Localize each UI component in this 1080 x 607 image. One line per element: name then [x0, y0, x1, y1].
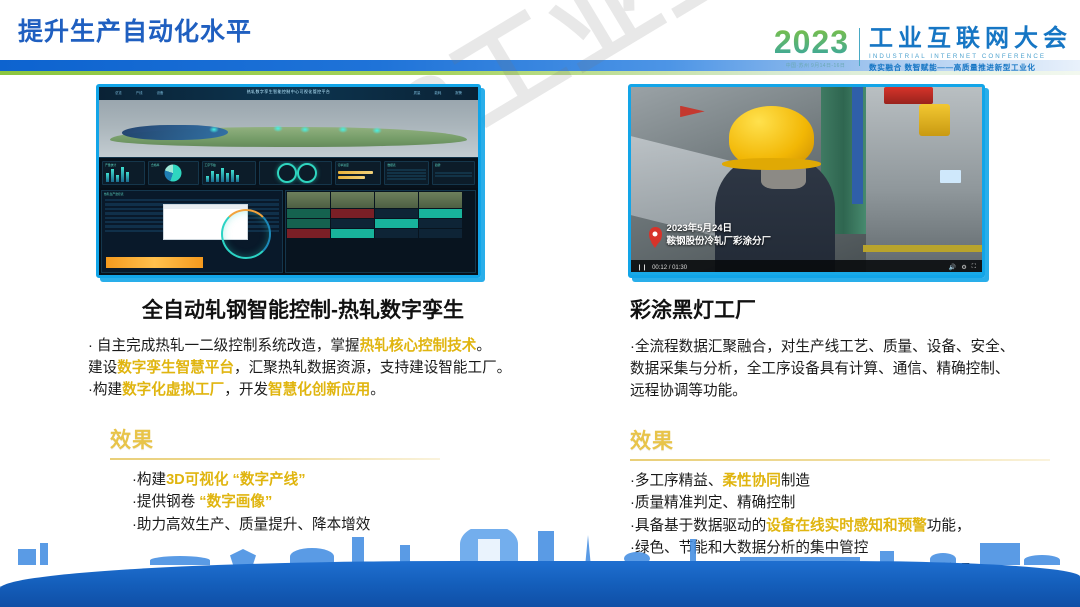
video-frame: 2023年5月24日 鞍钢股份冷轧厂彩涂分厂 ❙❙ 00:12 / 01:30 … [631, 87, 982, 275]
scene-glow-marker [300, 126, 310, 133]
yellow-robot-arm [919, 104, 951, 136]
kpi-panel-bars: 产量统计 [102, 161, 145, 185]
dashboard-tab[interactable]: 设备 [157, 90, 164, 95]
plain-text: ·构建 [132, 472, 166, 488]
status-cell [331, 209, 374, 218]
footer-wave-front [0, 561, 1080, 607]
slide-root: 提升生产自动化水平 2023 中国·苏州 9月14日-16日 工业互联网大会 I… [0, 0, 1080, 607]
highlighted-text: 数字化虚拟工厂 [122, 382, 224, 398]
right-effect-divider [630, 459, 1050, 461]
video-overlay-text: 2023年5月24日 鞍钢股份冷轧厂彩涂分厂 [667, 223, 772, 249]
status-cell [375, 209, 418, 218]
status-cell [375, 219, 418, 228]
scene-glow-marker [372, 127, 382, 134]
status-cell [419, 229, 462, 238]
text-line: ·全流程数据汇聚融合，对生产线工艺、质量、设备、安全、 [630, 336, 1060, 358]
kpi-panel-donut: 合格率 [148, 161, 198, 185]
left-effect-list: ·构建3D可视化 “数字产线”·提供钢卷 “数字画像”·助力高效生产、质量提升、… [110, 469, 440, 537]
video-location-overlay: 2023年5月24日 鞍钢股份冷轧厂彩涂分厂 [649, 223, 772, 249]
plain-text: ，汇聚热轧数据资源，支持建设智能工厂。 [234, 360, 511, 376]
city-skyline-silhouette [0, 529, 1080, 565]
right-headline: 彩涂黑灯工厂 [630, 294, 1060, 324]
plain-text: ·全流程数据汇聚融合，对生产线工艺、质量、设备、安全、 [630, 339, 1014, 355]
skyscraper-icon [538, 531, 554, 565]
kpi-panel-line: 趋势 [432, 161, 475, 185]
text-line: ·提供钢卷 “数字画像” [132, 491, 440, 514]
plant-icon [980, 543, 1020, 565]
highlighted-text: 3D可视化 [166, 472, 228, 488]
logo-main-title: 工业互联网大会 [869, 26, 1072, 51]
video-overlay-date: 2023年5月24日 [667, 223, 772, 236]
red-crane [884, 87, 933, 104]
right-column: 2023年5月24日 鞍钢股份冷轧厂彩涂分厂 ❙❙ 00:12 / 01:30 … [620, 84, 1060, 583]
page-title: 提升生产自动化水平 [18, 12, 252, 48]
dashboard-topbar: 热轧数字孪生智能控制中心可视化管控平台 总览 产线 设备 质量 能耗 报警 [99, 87, 478, 100]
pause-icon[interactable]: ❙❙ [637, 264, 647, 271]
coil-temperature-strip [106, 257, 203, 268]
mini-bar-chart [106, 166, 129, 182]
volume-icon[interactable]: 🔊 [949, 264, 956, 271]
wall-display-screen [940, 170, 961, 183]
dashboard-title: 热轧数字孪生智能控制中心可视化管控平台 [247, 89, 331, 95]
video-progress-bar[interactable] [631, 272, 982, 275]
highlighted-text: 数字孪生智慧平台 [117, 360, 234, 376]
logo-english-subtitle: INDUSTRIAL INTERNET CONFERENCE [869, 53, 1072, 60]
video-control-bar[interactable]: ❙❙ 00:12 / 01:30 🔊 ⚙ ⛶ [631, 260, 982, 275]
right-effect-title: 效果 [630, 425, 1050, 455]
highlighted-text: 热轧核心控制技术 [360, 338, 477, 354]
highlighted-text: 柔性协同 [722, 473, 780, 489]
dashboard-kpi-row: 产量统计 合格率 工序节拍 [99, 157, 478, 188]
dashboard-mock: 热轧数字孪生智能控制中心可视化管控平台 总览 产线 设备 质量 能耗 报警 [99, 87, 478, 275]
kpi-panel-gauges [259, 161, 332, 185]
video-player[interactable]: 2023年5月24日 鞍钢股份冷轧厂彩涂分厂 ❙❙ 00:12 / 01:30 … [628, 84, 985, 278]
video-controls-left[interactable]: ❙❙ 00:12 / 01:30 [637, 264, 687, 271]
dashboard-tab[interactable]: 能耗 [434, 90, 441, 95]
plain-text: 。 [476, 338, 491, 354]
status-cell [287, 219, 330, 228]
bridge-icon [1024, 555, 1060, 565]
status-cell [375, 229, 418, 238]
video-controls-right[interactable]: 🔊 ⚙ ⛶ [949, 264, 976, 271]
chimney-icon [40, 543, 48, 565]
plain-text: 数据采集与分析，全工序设备具有计算、通信、精确控制、 [630, 361, 1009, 377]
left-body-text: · 自主完成热轧一二级控制系统改造，掌握热轧核心控制技术。建设数字孪生智慧平台，… [88, 335, 518, 402]
hardhat-brim [722, 158, 820, 169]
text-line: ·构建数字化虚拟工厂，开发智慧化创新应用。 [88, 379, 518, 401]
plain-text: ，开发 [224, 382, 268, 398]
text-line: ·质量精准判定、精确控制 [630, 492, 1050, 515]
status-cell [419, 209, 462, 218]
plain-text: 自主完成热轧一二级控制系统改造，掌握 [93, 338, 360, 354]
video-time: 00:12 / 01:30 [652, 265, 687, 271]
dashboard-image: 热轧数字孪生智能控制中心可视化管控平台 总览 产线 设备 质量 能耗 报警 [96, 84, 481, 278]
logo-year: 2023 [774, 26, 857, 58]
plain-text: 建设 [88, 360, 117, 376]
logo-divider [859, 28, 860, 66]
camera-thumbnail[interactable] [287, 192, 330, 208]
panel-label: 合格率 [151, 163, 159, 167]
donut-chart [165, 165, 182, 182]
factory-icon [18, 549, 36, 565]
video-overlay-location: 鞍钢股份冷轧厂彩涂分厂 [667, 236, 772, 249]
conference-logo: 2023 中国·苏州 9月14日-16日 工业互联网大会 INDUSTRIAL … [774, 26, 1072, 73]
logo-tagline: 数实融合 数智赋能——高质量推进新型工业化 [869, 62, 1072, 73]
plain-text: ·提供钢卷 [132, 494, 195, 510]
fullscreen-icon[interactable]: ⛶ [972, 264, 976, 271]
footer-decoration [0, 529, 1080, 607]
camera-grid [285, 190, 476, 273]
left-effect-divider [110, 458, 440, 460]
status-cell [287, 229, 330, 238]
status-cell [287, 209, 330, 218]
dashboard-tab[interactable]: 产线 [136, 90, 143, 95]
dashboard-tabs-right[interactable]: 质量 能耗 报警 [414, 90, 462, 95]
text-line: 数据采集与分析，全工序设备具有计算、通信、精确控制、 [630, 358, 1060, 380]
kpi-panel-trend: 工序节拍 [202, 161, 256, 185]
highlighted-text: 智慧化创新应用 [268, 382, 370, 398]
plain-text: 远程协调等功能。 [630, 383, 747, 399]
plain-text: ·质量精准判定、精确控制 [630, 495, 795, 511]
plain-text: 。 [370, 382, 385, 398]
logo-year-subtitle: 中国·苏州 9月14日-16日 [774, 62, 857, 69]
table-title: 热轧生产监控表 [104, 192, 124, 196]
dashboard-detail-row: 热轧生产监控表 [99, 188, 478, 275]
highlighted-text: “数字产线” [229, 472, 306, 488]
panel-label: 趋势 [435, 163, 441, 167]
text-line: 远程协调等功能。 [630, 380, 1060, 402]
dashboard-tab[interactable]: 质量 [414, 90, 421, 95]
dashboard-3d-scene [99, 100, 478, 157]
status-cell [331, 219, 374, 228]
right-body-text: ·全流程数据汇聚融合，对生产线工艺、质量、设备、安全、数据采集与分析，全工序设备… [630, 336, 1060, 403]
left-effect-title: 效果 [110, 424, 440, 454]
text-line: ·多工序精益、柔性协同制造 [630, 470, 1050, 493]
logo-year-block: 2023 中国·苏州 9月14日-16日 [774, 26, 857, 69]
gauge-dial [277, 163, 297, 183]
dashboard-tab[interactable]: 总览 [115, 90, 122, 95]
text-line: 建设数字孪生智慧平台，汇聚热轧数据资源，支持建设智能工厂。 [88, 357, 518, 379]
highlighted-text: “数字画像” [195, 494, 272, 510]
blue-column [852, 87, 863, 204]
mini-bar-chart [206, 166, 239, 182]
text-line: · 自主完成热轧一二级控制系统改造，掌握热轧核心控制技术。 [88, 335, 518, 357]
plain-text: ·多工序精益、 [630, 473, 722, 489]
pavilion-icon [230, 549, 256, 565]
plain-text: 制造 [781, 473, 810, 489]
left-column: 热轧数字孪生智能控制中心可视化管控平台 总览 产线 设备 质量 能耗 报警 [88, 84, 518, 536]
yellow-safety-rail [863, 245, 982, 253]
mountain-icon [150, 556, 210, 565]
logo-text-block: 工业互联网大会 INDUSTRIAL INTERNET CONFERENCE 数… [869, 26, 1072, 73]
panel-label: 订单进度 [338, 163, 349, 167]
camera-thumbnail[interactable] [419, 192, 462, 208]
dashboard-tabs-left[interactable]: 总览 产线 设备 [115, 90, 163, 95]
popup-header [164, 205, 247, 209]
speedometer-gauge [221, 209, 271, 259]
kpi-panel-progress: 订单进度 [335, 161, 382, 185]
status-cell [331, 229, 374, 238]
status-cell [419, 219, 462, 228]
dashboard-data-table: 热轧生产监控表 [101, 190, 283, 273]
left-effect-block: 效果 ·构建3D可视化 “数字产线”·提供钢卷 “数字画像”·助力高效生产、质量… [110, 424, 440, 537]
text-line: ·构建3D可视化 “数字产线” [132, 469, 440, 492]
plain-text: 构建 [93, 382, 122, 398]
left-headline: 全自动轧钢智能控制-热轧数字孪生 [88, 294, 518, 324]
camera-thumbnail[interactable] [331, 192, 374, 208]
gear-icon[interactable]: ⚙ [961, 264, 966, 271]
camera-thumbnail[interactable] [375, 192, 418, 208]
kpi-panel-table: 数据表 [384, 161, 429, 185]
panel-label: 数据表 [387, 163, 395, 167]
dashboard-tab[interactable]: 报警 [455, 90, 462, 95]
red-flag [680, 106, 705, 117]
gauge-dial [297, 163, 317, 183]
location-pin-icon [649, 227, 662, 244]
